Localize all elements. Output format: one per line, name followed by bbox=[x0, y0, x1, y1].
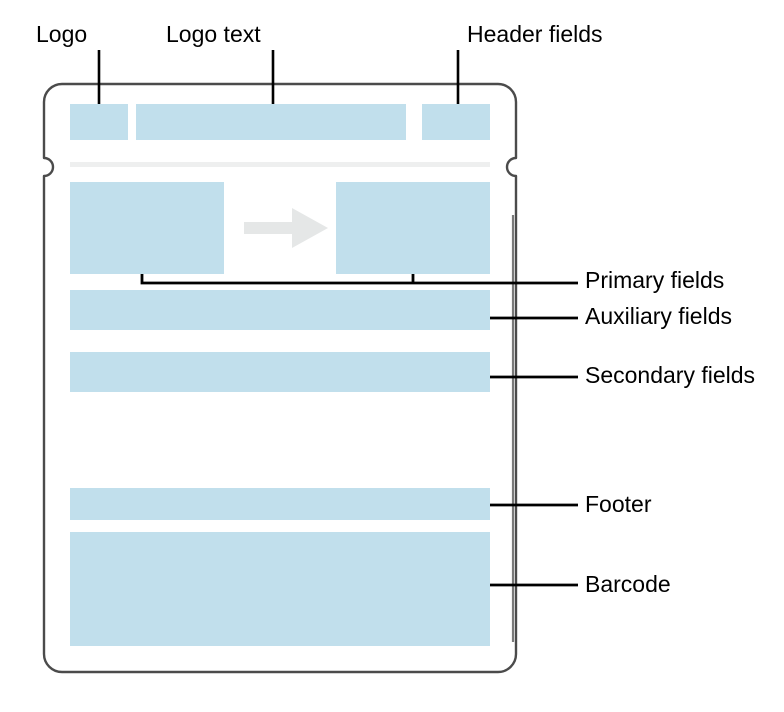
pass-region-auxiliary-fields[interactable] bbox=[70, 290, 490, 330]
pass-region-footer[interactable] bbox=[70, 488, 490, 520]
callout-label-secondary-fields: Secondary fields bbox=[585, 362, 755, 389]
pass-region-primary-left[interactable] bbox=[70, 182, 224, 274]
pass-region-logo[interactable] bbox=[70, 104, 128, 140]
header-divider bbox=[70, 162, 490, 167]
callout-label-header-fields: Header fields bbox=[467, 21, 603, 48]
callout-label-footer: Footer bbox=[585, 491, 651, 518]
callout-label-auxiliary-fields: Auxiliary fields bbox=[585, 303, 732, 330]
callout-label-logo: Logo bbox=[36, 21, 87, 48]
transit-arrow-icon bbox=[242, 206, 330, 250]
diagram-canvas: Logo Logo text Header fields Primary fie… bbox=[0, 0, 784, 712]
callout-label-barcode: Barcode bbox=[585, 571, 671, 598]
pass-region-secondary-fields[interactable] bbox=[70, 352, 490, 392]
pass-region-logo-text[interactable] bbox=[136, 104, 406, 140]
pass-region-barcode[interactable] bbox=[70, 532, 490, 646]
pass-region-header-fields[interactable] bbox=[422, 104, 490, 140]
pass-region-primary-right[interactable] bbox=[336, 182, 490, 274]
callout-label-primary-fields: Primary fields bbox=[585, 267, 724, 294]
callout-label-logo-text: Logo text bbox=[166, 21, 261, 48]
pass-card bbox=[44, 84, 516, 672]
